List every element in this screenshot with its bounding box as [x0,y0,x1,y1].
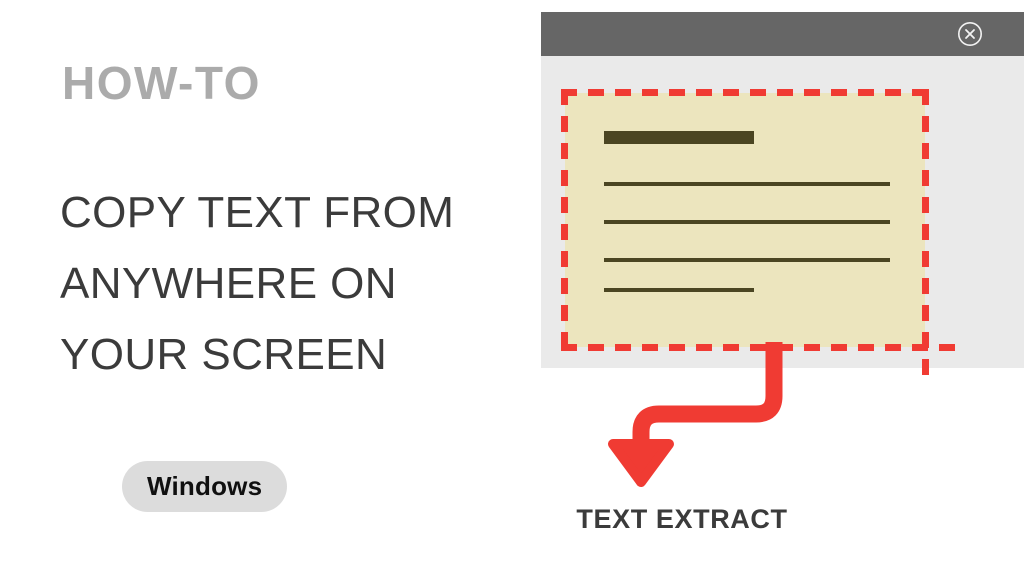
document-heading-line [604,131,754,144]
document-sheet [565,93,925,347]
curved-down-arrow-icon [596,336,806,496]
kicker-label: HOW-TO [62,60,261,106]
platform-badge-label: Windows [147,471,262,502]
document-text-line [604,258,890,262]
close-circle-icon[interactable] [957,21,983,47]
caption-text-extract: TEXT EXTRACT [556,504,808,535]
document-text-line [604,288,754,292]
platform-badge-windows[interactable]: Windows [122,461,287,512]
screen-capture-selection[interactable] [561,89,929,351]
document-text-line [604,182,890,186]
window-titlebar[interactable] [541,12,1024,56]
page-title: Copy text from anywhere on your screen [60,177,512,390]
text-column: HOW-TO Copy text from anywhere on your s… [60,0,520,576]
document-text-line [604,220,890,224]
